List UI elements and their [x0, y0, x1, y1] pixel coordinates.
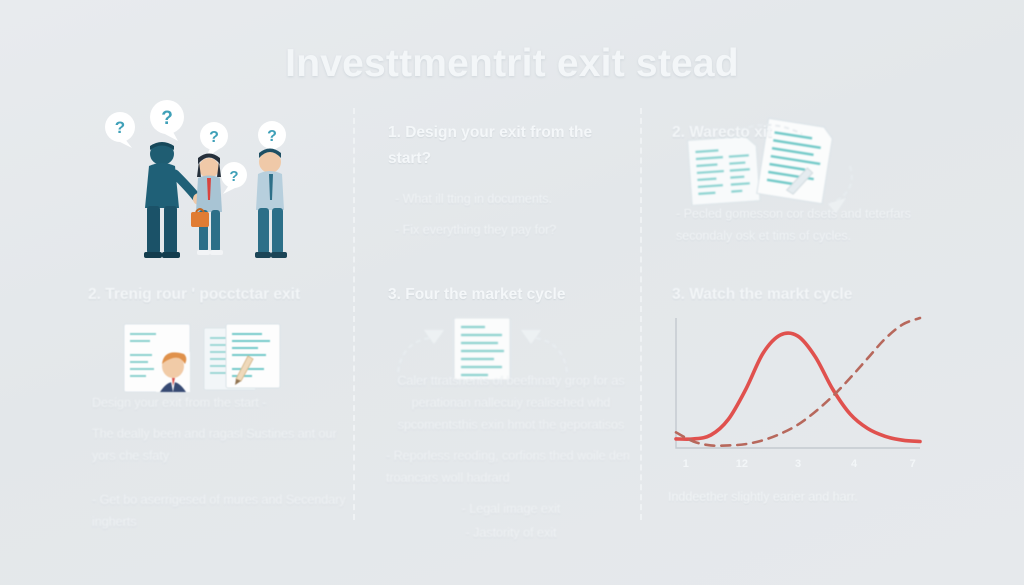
- bullet-item: - Pecled gomesson cor dsets and teterfar…: [676, 203, 921, 247]
- bullet-item: Caler ttratsnents of beefhnaty grop for …: [386, 370, 636, 436]
- svg-text:?: ?: [229, 168, 238, 185]
- bullets-design-exit: - What ill tting in documents. - Fix eve…: [395, 188, 635, 250]
- resume-card: [124, 324, 190, 392]
- person-left: [144, 142, 205, 258]
- arrow-head: [424, 330, 444, 344]
- chart-tick-label: 3: [795, 458, 801, 470]
- heading-watch-market-cycle: 3. Watch the markt cycle: [672, 282, 922, 308]
- market-cycle-chart: 112347: [662, 312, 924, 480]
- bullet-item: - Get bo aserrigesed of mures and Secend…: [92, 489, 357, 533]
- bullet-item: - Reporless reoding, corfions thed woile…: [386, 445, 636, 489]
- arrow-head: [521, 330, 541, 344]
- bullet-item: - What ill tting in documents.: [395, 188, 635, 210]
- svg-text:?: ?: [161, 108, 173, 129]
- bullet-item: Design your exit from the start -: [92, 392, 357, 414]
- person-middle: [191, 154, 223, 256]
- avatar: [156, 352, 190, 392]
- chart-tick-label: 7: [910, 458, 916, 470]
- person-right: [255, 149, 287, 259]
- resume-illustration: [122, 322, 297, 392]
- chart-caption: Inddeether slightly earier and harr.: [668, 488, 933, 506]
- bullet-item: The deally been and ragasl Sustines ant …: [92, 423, 357, 467]
- bullet-item: - Fix everything they pay for?: [395, 219, 635, 241]
- heading-four-market-cycle: 3. Four the market cycle: [388, 282, 638, 308]
- bullets-warecto-exit: - Pecled gomesson cor dsets and teterfar…: [676, 203, 921, 256]
- svg-text:?: ?: [115, 118, 125, 137]
- heading-warecto-exit: 2. Warecto xit: [672, 120, 922, 146]
- bullet-item: - Jastority of exit: [386, 522, 636, 544]
- documents-with-pen: [204, 324, 280, 390]
- svg-text:?: ?: [209, 129, 219, 146]
- people-illustration: ? ? ? ?: [92, 100, 312, 265]
- chart-tick-label: 12: [736, 458, 748, 470]
- chart-tick-label: 4: [851, 458, 858, 470]
- page-title: Investtmentrit exit stead: [0, 42, 1024, 86]
- svg-text:?: ?: [267, 128, 277, 145]
- document-icon: [688, 136, 760, 206]
- bullets-four-market-cycle: Caler ttratsnents of beefhnaty grop for …: [386, 370, 636, 546]
- bullets-trenig-exit: Design your exit from the start - The de…: [92, 392, 357, 542]
- heading-trenig-exit: 2. Trenig rour ' pocctctar exit: [88, 282, 358, 308]
- chart-tick-label: 1: [683, 458, 689, 470]
- infographic-canvas: Investtmentrit exit stead ? ?: [0, 0, 1024, 585]
- column-divider-2: [640, 108, 642, 520]
- heading-design-exit: 1. Design your exit from the start?: [388, 120, 638, 172]
- bullet-item: - Legal image exit: [386, 498, 636, 520]
